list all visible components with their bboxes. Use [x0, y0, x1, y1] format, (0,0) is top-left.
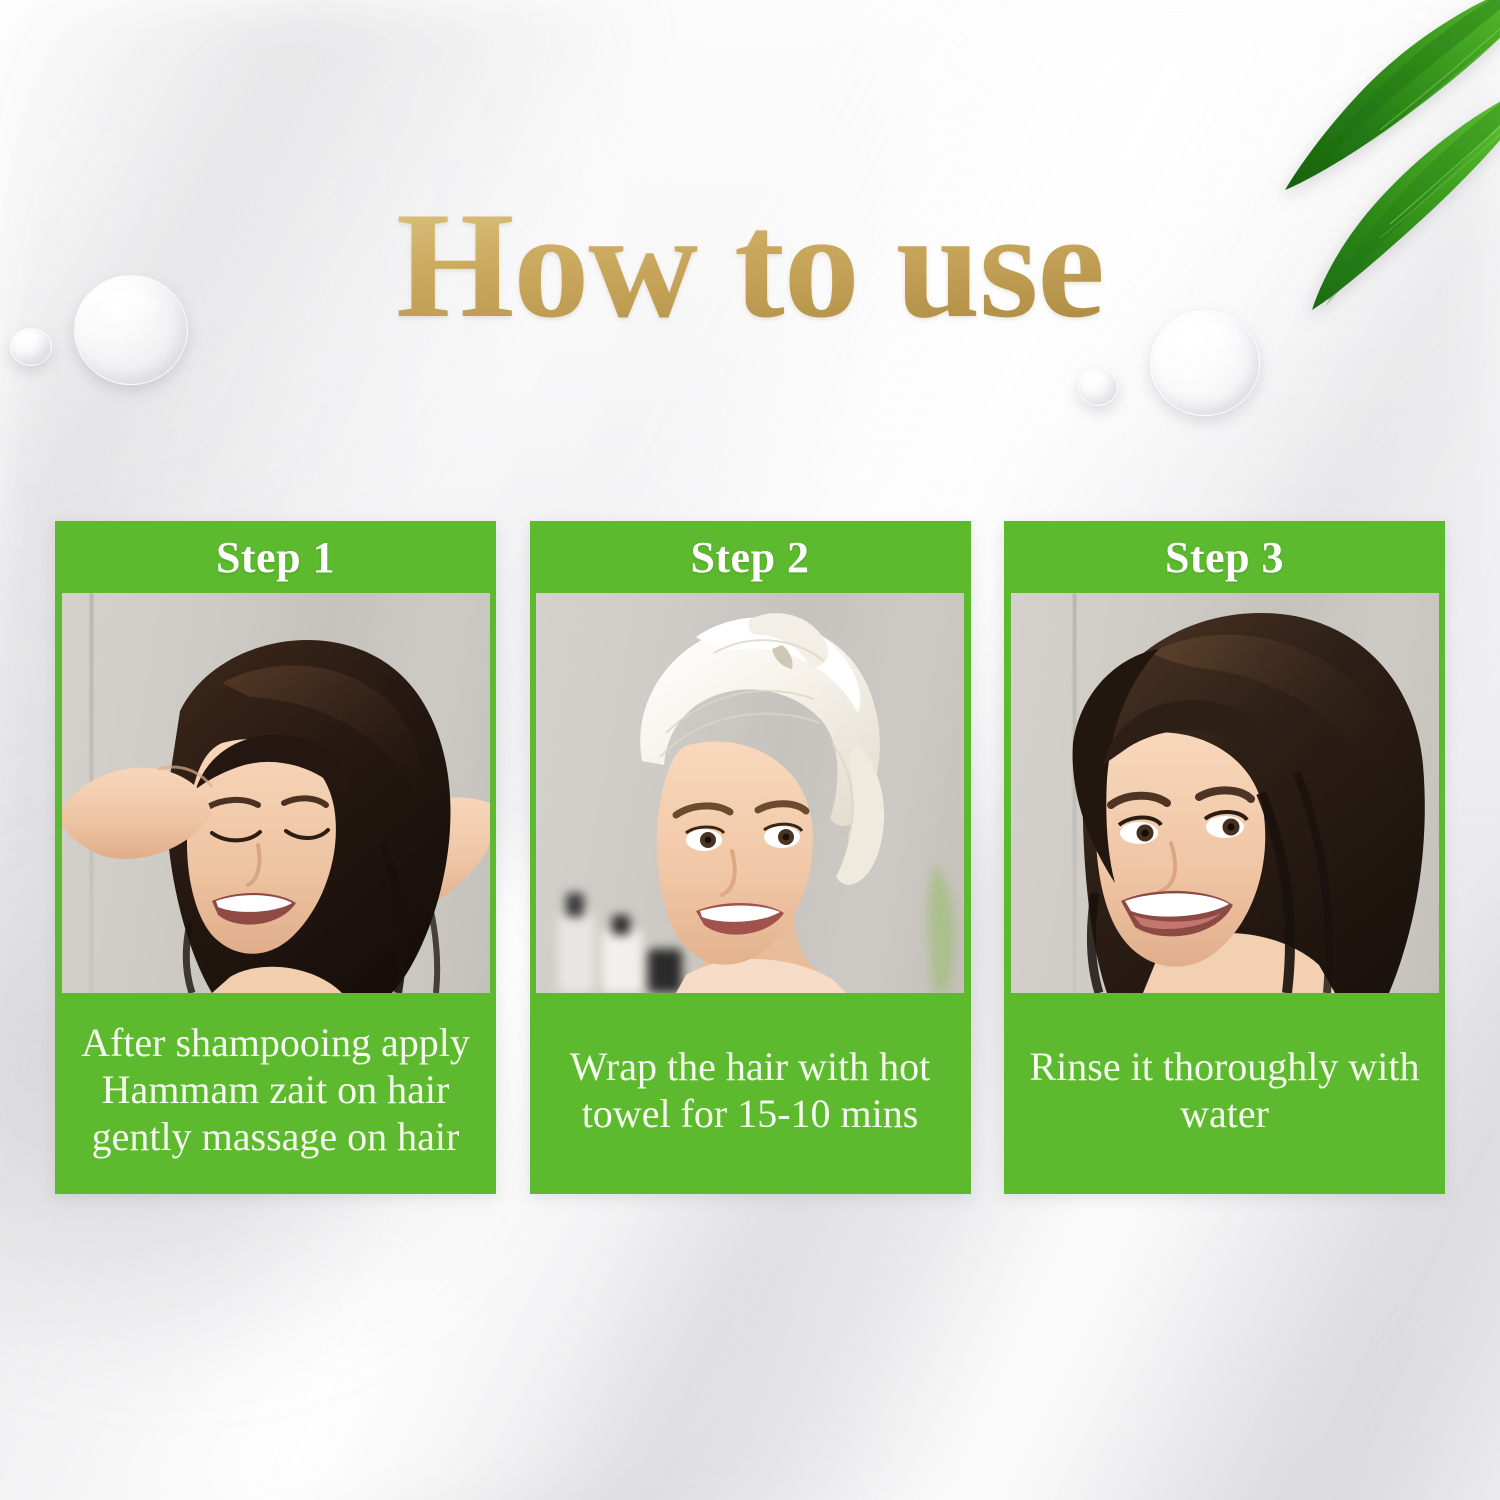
smiling-woman-illustration — [1011, 593, 1439, 993]
step-2-caption: Wrap the hair with hot towel for 15-10 m… — [530, 993, 971, 1194]
towel-wrap-illustration — [536, 593, 964, 993]
step-card-3[interactable]: Step 3 — [1004, 521, 1445, 1194]
steps-container: Step 1 — [55, 521, 1445, 1194]
step-1-caption: After shampooing apply Hammam zait on ha… — [55, 993, 496, 1194]
step-card-1[interactable]: Step 1 — [55, 521, 496, 1194]
step-2-header: Step 2 — [530, 521, 971, 593]
step-card-2[interactable]: Step 2 — [530, 521, 971, 1194]
step-1-photo — [62, 593, 490, 993]
step-3-photo — [1011, 593, 1439, 993]
water-droplet-small-right — [1078, 368, 1118, 406]
step-1-header: Step 1 — [55, 521, 496, 593]
blurred-bottles — [558, 893, 682, 993]
step-2-photo — [536, 593, 964, 993]
step-3-caption: Rinse it thoroughly with water — [1004, 993, 1445, 1194]
poster-canvas: How to use Step 1 — [0, 0, 1500, 1500]
step-3-header: Step 3 — [1004, 521, 1445, 593]
page-title: How to use — [0, 186, 1500, 346]
scalp-massage-illustration — [62, 593, 490, 993]
